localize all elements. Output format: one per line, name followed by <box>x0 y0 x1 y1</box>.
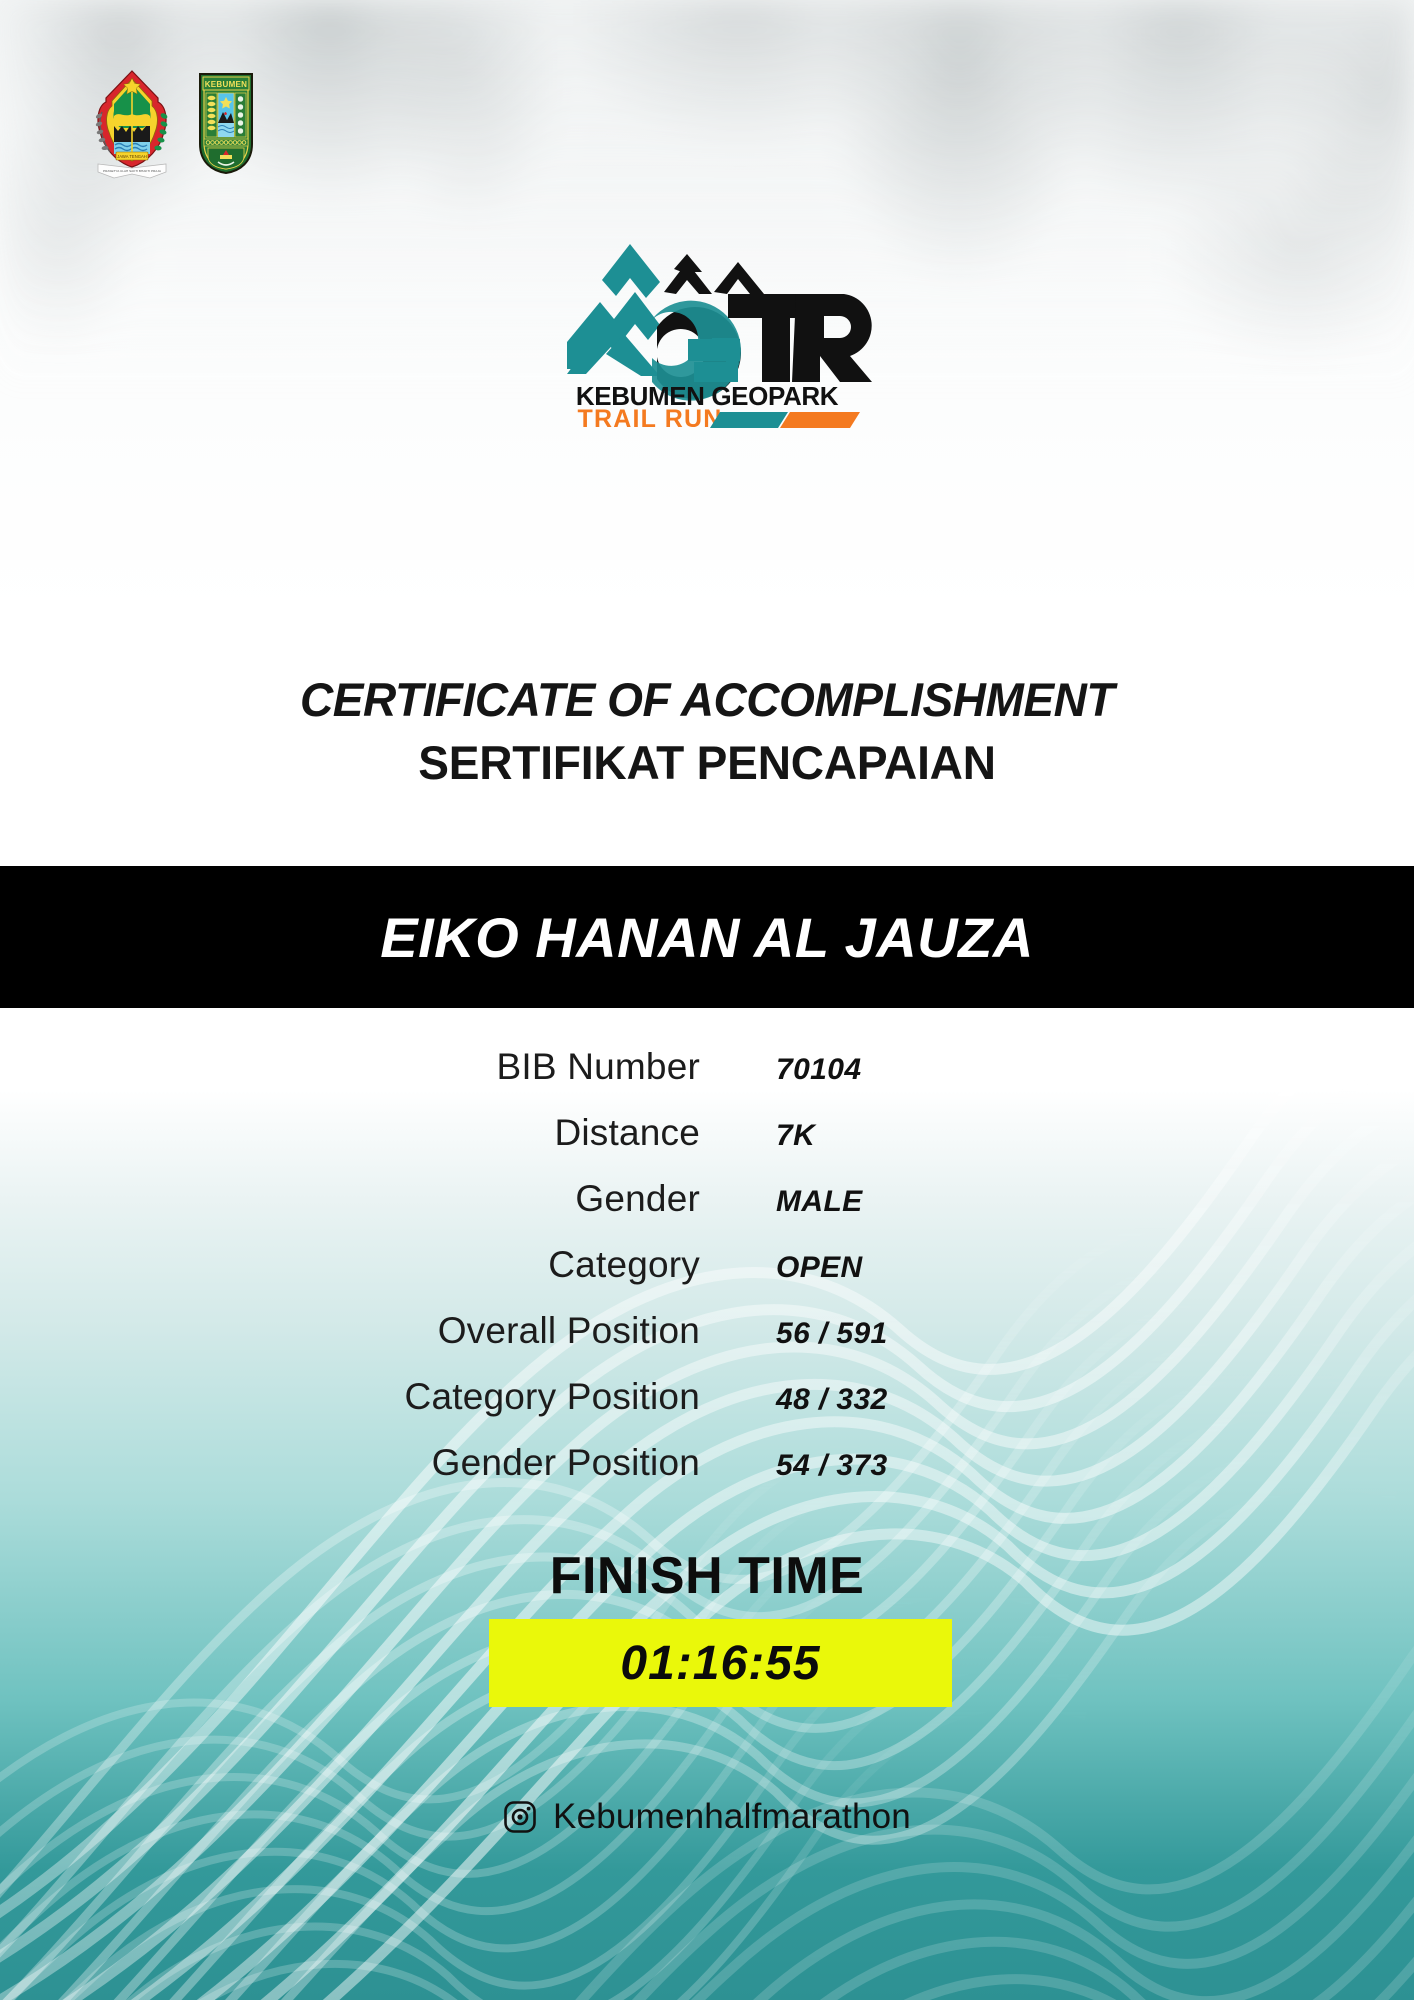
row-label: Gender <box>0 1178 700 1220</box>
certificate-titles: CERTIFICATE OF ACCOMPLISHMENT SERTIFIKAT… <box>0 672 1414 792</box>
row-value: 54 / 373 <box>700 1449 1414 1483</box>
certificate-page: JAWA TENGAH PRASETYA ULAH SAKTI BHAKTI P… <box>0 0 1414 2000</box>
row-label: Category <box>0 1244 700 1286</box>
table-row: Distance 7K <box>0 1112 1414 1178</box>
table-row: Category Position 48 / 332 <box>0 1376 1414 1442</box>
jateng-caption: JAWA TENGAH <box>117 154 147 159</box>
kebumen-caption: KEBUMEN <box>205 80 248 89</box>
row-label: Overall Position <box>0 1310 700 1352</box>
table-row: Gender MALE <box>0 1178 1414 1244</box>
emblem-group: JAWA TENGAH PRASETYA ULAH SAKTI BHAKTI P… <box>88 68 278 188</box>
kebumen-emblem-icon: KEBUMEN <box>190 68 262 176</box>
row-value: OPEN <box>700 1251 1414 1285</box>
row-label: Gender Position <box>0 1442 700 1484</box>
table-row: Overall Position 56 / 591 <box>0 1310 1414 1376</box>
row-label: Distance <box>0 1112 700 1154</box>
logo-line2: TRAIL RUN <box>577 405 722 429</box>
title-indonesian: SERTIFIKAT PENCAPAIAN <box>14 735 1400 791</box>
table-row: Category OPEN <box>0 1244 1414 1310</box>
row-label: Category Position <box>0 1376 700 1418</box>
finish-time-value: 01:16:55 <box>620 1636 820 1691</box>
finish-time-label: FINISH TIME <box>0 1546 1414 1606</box>
row-value: 56 / 591 <box>700 1317 1414 1351</box>
result-details-table: BIB Number 70104 Distance 7K Gender MALE… <box>0 1046 1414 1508</box>
table-row: Gender Position 54 / 373 <box>0 1442 1414 1508</box>
kgtr-logo: KEBUMEN GEOPARK TRAIL RUN <box>0 234 1414 429</box>
row-value: MALE <box>700 1185 1414 1219</box>
row-label: BIB Number <box>0 1046 700 1088</box>
participant-name: EIKO HANAN AL JAUZA <box>380 905 1034 970</box>
participant-name-bar: EIKO HANAN AL JAUZA <box>0 866 1414 1008</box>
row-value: 7K <box>700 1119 1414 1153</box>
jateng-motto: PRASETYA ULAH SAKTI BHAKTI PRAJA <box>103 169 162 173</box>
instagram-icon <box>503 1800 537 1834</box>
finish-time-highlight: 01:16:55 <box>489 1619 952 1707</box>
jawa-tengah-emblem-icon: JAWA TENGAH PRASETYA ULAH SAKTI BHAKTI P… <box>88 68 176 180</box>
table-row: BIB Number 70104 <box>0 1046 1414 1112</box>
row-value: 48 / 332 <box>700 1383 1414 1417</box>
footer: Kebumenhalfmarathon <box>0 1797 1414 1837</box>
title-english: CERTIFICATE OF ACCOMPLISHMENT <box>14 672 1400 727</box>
instagram-handle: Kebumenhalfmarathon <box>553 1797 911 1837</box>
row-value: 70104 <box>700 1053 1414 1087</box>
